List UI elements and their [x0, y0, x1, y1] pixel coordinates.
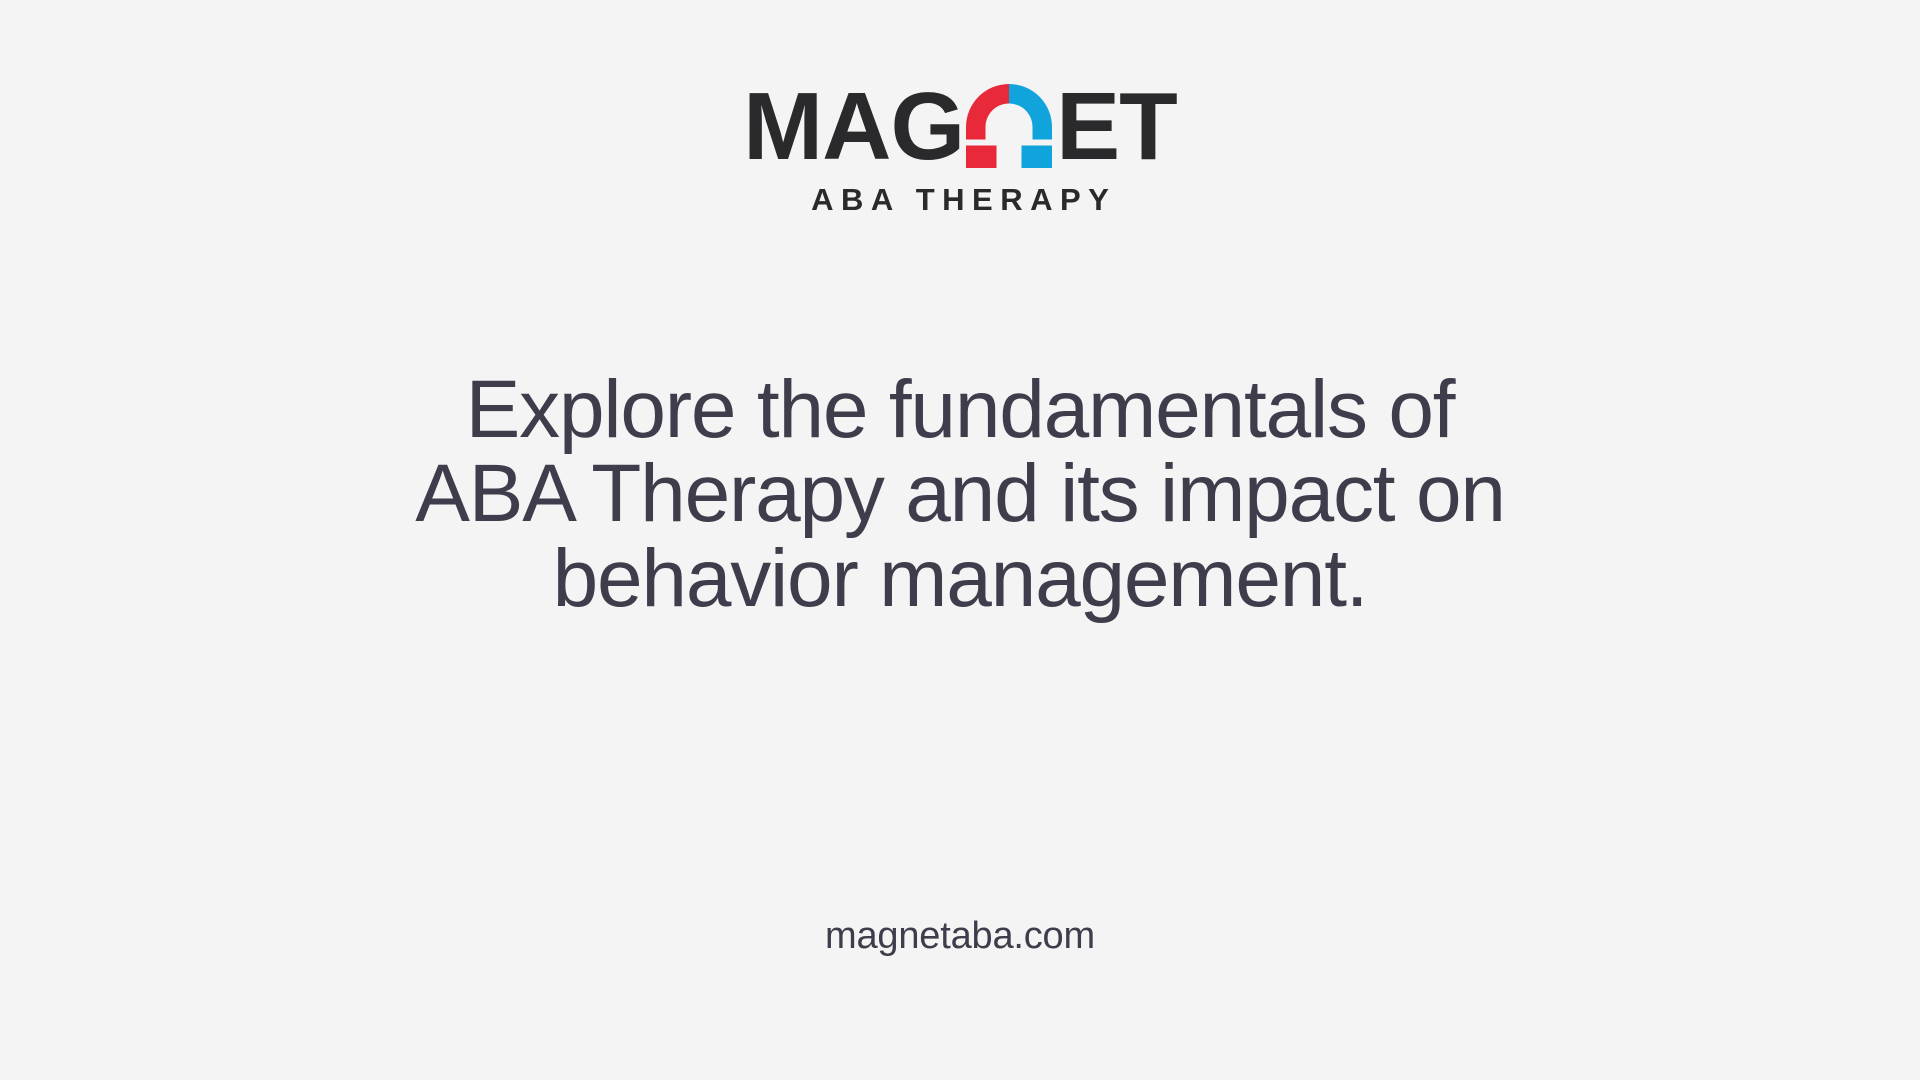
- website-url[interactable]: magnetaba.com: [0, 915, 1920, 958]
- brand-tagline: ABA THERAPY: [804, 182, 1117, 218]
- social-share-card: MAG: [0, 0, 1920, 1080]
- headline: Explore the fundamentals of ABA Therapy …: [250, 368, 1670, 621]
- headline-line-3: behavior management.: [250, 537, 1670, 621]
- wordmark-text-right: ET: [1056, 87, 1177, 168]
- brand-wordmark: MAG: [743, 72, 1177, 168]
- wordmark-text-left: MAG: [743, 87, 964, 168]
- headline-line-1: Explore the fundamentals of: [250, 368, 1670, 452]
- headline-line-2: ABA Therapy and its impact on: [250, 452, 1670, 536]
- horseshoe-magnet-icon: [966, 84, 1052, 168]
- brand-logo[interactable]: MAG: [743, 72, 1177, 218]
